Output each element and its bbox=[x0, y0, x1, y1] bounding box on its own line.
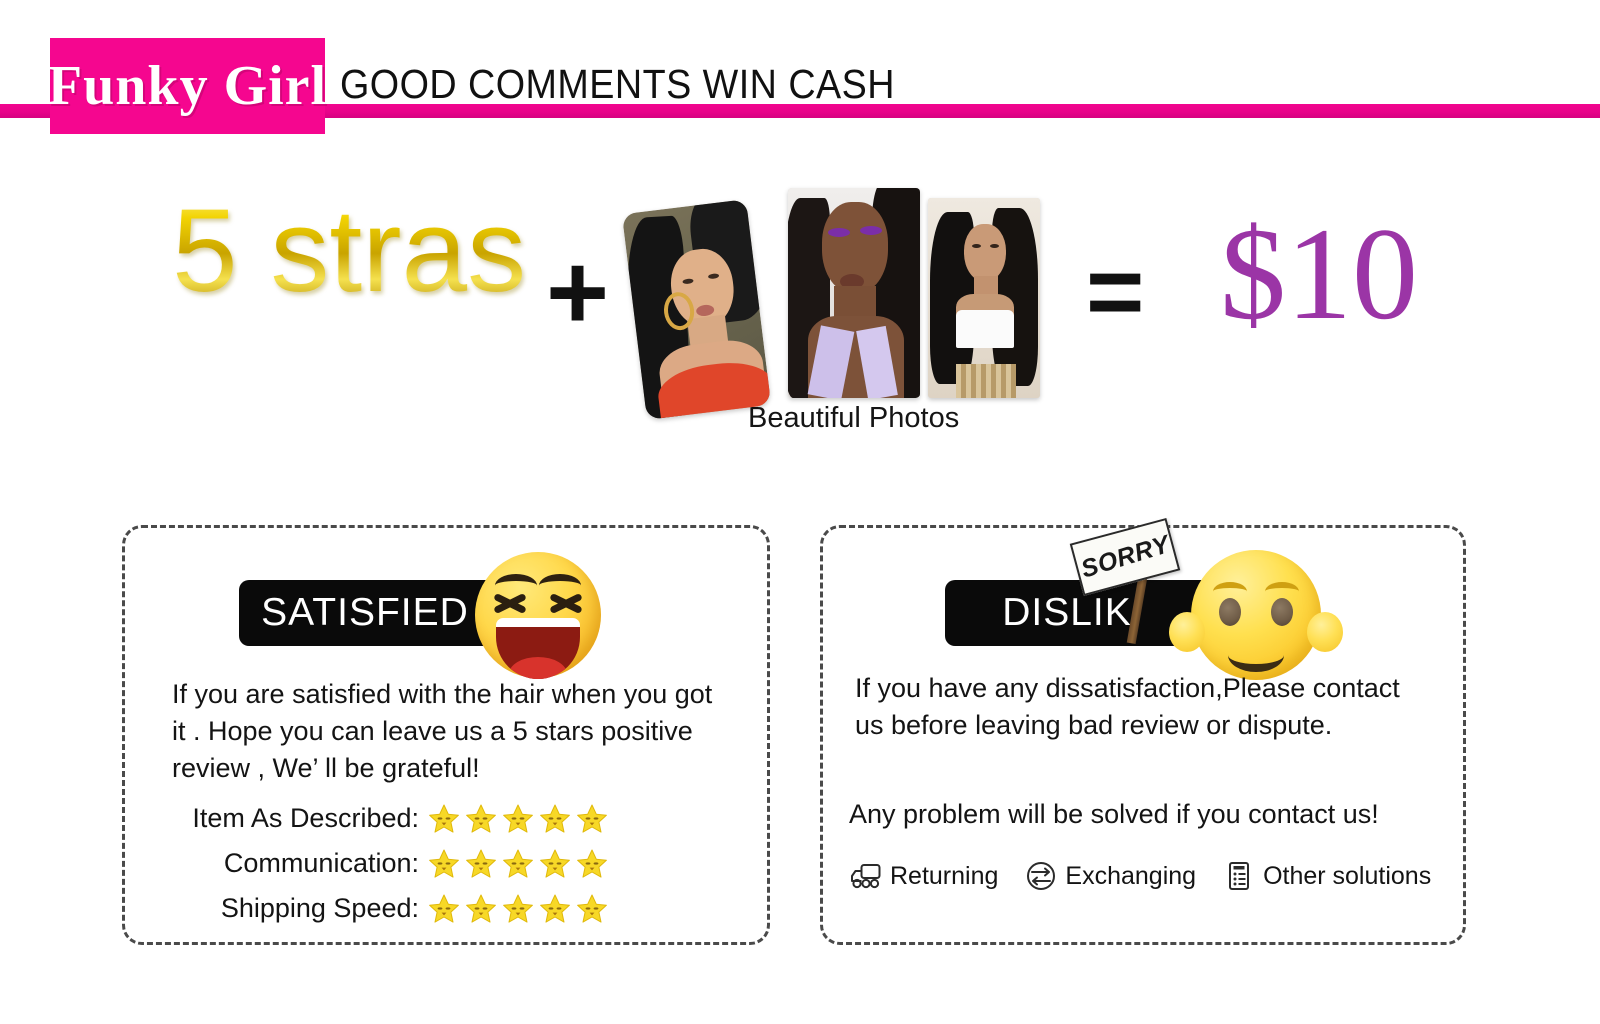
sign-board: SORRY bbox=[1070, 518, 1181, 596]
star-icon bbox=[501, 892, 535, 926]
page-header: Funky Girl GOOD COMMENTS WIN CASH bbox=[0, 0, 1600, 140]
star-icon bbox=[501, 802, 535, 836]
dislike-card: DISLIK SORRY If you have any dissatisfac… bbox=[820, 525, 1466, 945]
satisfied-badge-label: SATISFIED bbox=[261, 591, 469, 635]
emoji-hand-right bbox=[1307, 612, 1343, 652]
truck-icon bbox=[849, 860, 883, 892]
customer-photo-2 bbox=[788, 188, 920, 398]
reward-amount: $10 bbox=[1220, 208, 1418, 340]
dislike-body-text-2: Any problem will be solved if you contac… bbox=[849, 796, 1439, 833]
rating-row: Item As Described: bbox=[147, 796, 747, 841]
rating-label: Communication: bbox=[147, 848, 427, 879]
star-icon bbox=[538, 802, 572, 836]
dislike-badge-row: DISLIK SORRY bbox=[945, 580, 1233, 646]
dislike-body-text: If you have any dissatisfaction,Please c… bbox=[855, 670, 1435, 744]
photo-cluster: Beautiful Photos bbox=[630, 188, 1060, 428]
rating-stars bbox=[427, 802, 609, 836]
page-title: GOOD COMMENTS WIN CASH bbox=[340, 61, 895, 108]
rating-list: Item As Described: Communication: Shippi… bbox=[147, 796, 747, 931]
star-icon bbox=[427, 847, 461, 881]
plus-sign: + bbox=[546, 238, 609, 346]
solution-label: Returning bbox=[890, 862, 998, 891]
rating-label: Item As Described: bbox=[147, 803, 427, 834]
exchange-arrows-icon bbox=[1024, 860, 1058, 892]
star-icon bbox=[501, 847, 535, 881]
brand-logo-block: Funky Girl bbox=[50, 38, 325, 134]
rating-row: Communication: bbox=[147, 841, 747, 886]
star-icon bbox=[464, 892, 498, 926]
satisfied-badge-row: SATISFIED bbox=[239, 580, 529, 646]
star-icon bbox=[538, 847, 572, 881]
solution-returning[interactable]: Returning bbox=[849, 860, 998, 892]
star-icon bbox=[538, 892, 572, 926]
five-stars-text: 5 stras bbox=[172, 192, 526, 310]
laughing-face-emoji bbox=[475, 552, 601, 678]
solution-label: Other solutions bbox=[1263, 862, 1431, 891]
customer-photo-3 bbox=[928, 198, 1040, 398]
solution-other[interactable]: Other solutions bbox=[1222, 860, 1431, 892]
star-icon bbox=[464, 847, 498, 881]
star-icon bbox=[464, 802, 498, 836]
star-icon bbox=[575, 892, 609, 926]
star-icon bbox=[575, 847, 609, 881]
clipboard-list-icon bbox=[1222, 860, 1256, 892]
equals-sign: = bbox=[1086, 242, 1142, 342]
rating-label: Shipping Speed: bbox=[147, 893, 427, 924]
rating-stars bbox=[427, 847, 609, 881]
customer-photo-1 bbox=[622, 199, 771, 420]
brand-logo-text: Funky Girl bbox=[48, 58, 327, 114]
photos-caption: Beautiful Photos bbox=[748, 402, 959, 435]
sorry-sign-text: SORRY bbox=[1077, 530, 1172, 584]
satisfied-body-text: If you are satisfied with the hair when … bbox=[172, 676, 732, 787]
solutions-row: Returning Exchanging bbox=[849, 860, 1431, 892]
solution-label: Exchanging bbox=[1065, 862, 1196, 891]
rating-row: Shipping Speed: bbox=[147, 886, 747, 931]
star-icon bbox=[575, 802, 609, 836]
solution-exchanging[interactable]: Exchanging bbox=[1024, 860, 1196, 892]
star-icon bbox=[427, 802, 461, 836]
satisfied-card: SATISFIED If you are satisfied with the … bbox=[122, 525, 770, 945]
sorry-sign: SORRY bbox=[1081, 530, 1211, 650]
hero-equation: 5 stras + bbox=[0, 180, 1600, 440]
star-icon bbox=[427, 892, 461, 926]
rating-stars bbox=[427, 892, 609, 926]
